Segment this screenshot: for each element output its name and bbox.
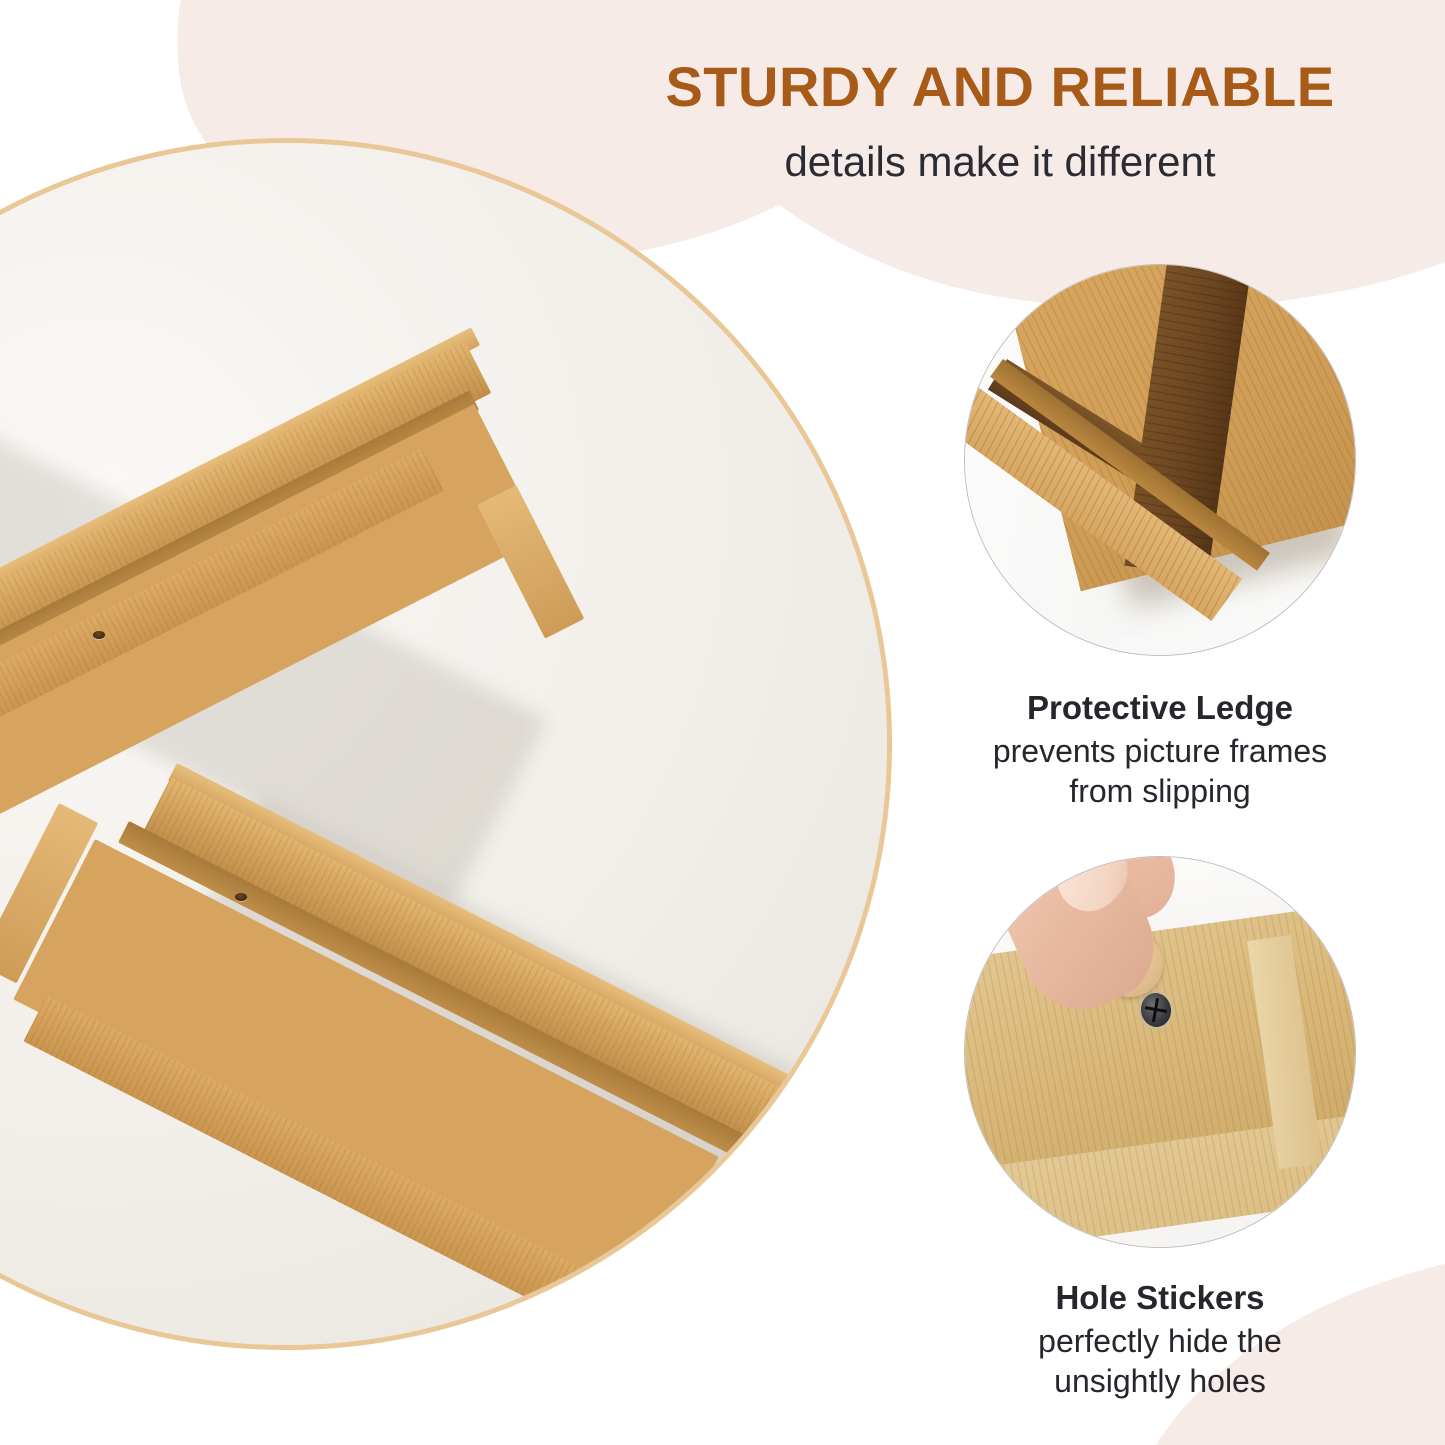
caption-body-line1-protective-ledge: prevents picture frames — [900, 732, 1420, 772]
caption-body-line1-hole-stickers: perfectly hide the — [900, 1322, 1420, 1362]
page-subtitle: details make it different — [600, 139, 1400, 185]
feature-image-hole-stickers — [964, 856, 1356, 1248]
feature-image-protective-ledge — [964, 264, 1356, 656]
heading-block: STURDY AND RELIABLE details make it diff… — [600, 58, 1400, 185]
shelf-lower — [155, 763, 892, 1283]
mounting-hole — [235, 893, 247, 901]
hero-product-photo — [0, 138, 892, 1350]
infographic-page: STURDY AND RELIABLE details make it diff… — [0, 0, 1445, 1445]
hole-sticker-scene — [964, 856, 1356, 1248]
thumbnail — [1042, 856, 1141, 925]
caption-title-protective-ledge: Protective Ledge — [900, 688, 1420, 728]
protective-ledge-scene — [964, 264, 1356, 656]
page-title: STURDY AND RELIABLE — [600, 58, 1400, 117]
caption-body-line2-protective-ledge: from slipping — [900, 772, 1420, 812]
caption-body-line2-hole-stickers: unsightly holes — [900, 1362, 1420, 1402]
caption-hole-stickers: Hole Stickers perfectly hide the unsight… — [900, 1278, 1420, 1402]
caption-title-hole-stickers: Hole Stickers — [900, 1278, 1420, 1318]
caption-protective-ledge: Protective Ledge prevents picture frames… — [900, 688, 1420, 812]
mounting-hole — [93, 631, 105, 639]
